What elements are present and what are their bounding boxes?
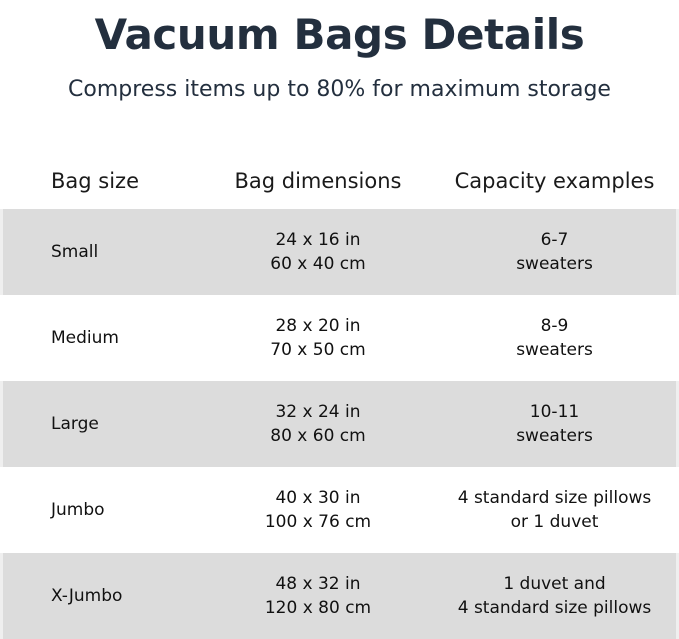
dimensions-centimeters: 60 x 40 cm — [206, 252, 430, 276]
capacity-line-1: 8-9 — [430, 314, 679, 338]
dimensions-inches: 48 x 32 in — [206, 572, 430, 596]
cell-bag-dimensions: 24 x 16 in 60 x 40 cm — [206, 228, 430, 276]
dimensions-inches: 24 x 16 in — [206, 228, 430, 252]
page-subtitle: Compress items up to 80% for maximum sto… — [0, 60, 679, 104]
vacuum-bags-details-page: Vacuum Bags Details Compress items up to… — [0, 0, 679, 639]
dimensions-centimeters: 70 x 50 cm — [206, 338, 430, 362]
cell-bag-dimensions: 28 x 20 in 70 x 50 cm — [206, 314, 430, 362]
column-header-bag-size: Bag size — [0, 168, 206, 194]
cell-bag-dimensions: 48 x 32 in 120 x 80 cm — [206, 572, 430, 620]
capacity-line-2: 4 standard size pillows — [430, 596, 679, 620]
dimensions-centimeters: 100 x 76 cm — [206, 510, 430, 534]
vacuum-bags-spec-table: Bag size Bag dimensions Capacity example… — [0, 152, 679, 639]
capacity-line-2: sweaters — [430, 424, 679, 448]
capacity-line-1: 10-11 — [430, 400, 679, 424]
cell-bag-dimensions: 40 x 30 in 100 x 76 cm — [206, 486, 430, 534]
cell-bag-size: Large — [0, 412, 206, 436]
capacity-line-2: sweaters — [430, 338, 679, 362]
table-row: Jumbo 40 x 30 in 100 x 76 cm 4 standard … — [0, 467, 679, 553]
cell-capacity-examples: 8-9 sweaters — [430, 314, 679, 362]
dimensions-centimeters: 120 x 80 cm — [206, 596, 430, 620]
dimensions-inches: 32 x 24 in — [206, 400, 430, 424]
capacity-line-1: 4 standard size pillows — [430, 486, 679, 510]
page-header: Vacuum Bags Details Compress items up to… — [0, 0, 679, 104]
capacity-line-1: 1 duvet and — [430, 572, 679, 596]
page-title: Vacuum Bags Details — [0, 4, 679, 60]
cell-capacity-examples: 1 duvet and 4 standard size pillows — [430, 572, 679, 620]
cell-bag-dimensions: 32 x 24 in 80 x 60 cm — [206, 400, 430, 448]
cell-bag-size: Small — [0, 240, 206, 264]
cell-bag-size: Jumbo — [0, 498, 206, 522]
cell-capacity-examples: 4 standard size pillows or 1 duvet — [430, 486, 679, 534]
table-row: Medium 28 x 20 in 70 x 50 cm 8-9 sweater… — [0, 295, 679, 381]
cell-capacity-examples: 6-7 sweaters — [430, 228, 679, 276]
capacity-line-1: 6-7 — [430, 228, 679, 252]
table-row: Small 24 x 16 in 60 x 40 cm 6-7 sweaters — [0, 209, 679, 295]
capacity-line-2: or 1 duvet — [430, 510, 679, 534]
column-header-bag-dimensions: Bag dimensions — [206, 168, 430, 194]
column-header-capacity-examples: Capacity examples — [430, 168, 679, 194]
dimensions-inches: 40 x 30 in — [206, 486, 430, 510]
table-row: Large 32 x 24 in 80 x 60 cm 10-11 sweate… — [0, 381, 679, 467]
table-row: X-Jumbo 48 x 32 in 120 x 80 cm 1 duvet a… — [0, 553, 679, 639]
cell-bag-size: Medium — [0, 326, 206, 350]
dimensions-centimeters: 80 x 60 cm — [206, 424, 430, 448]
cell-bag-size: X-Jumbo — [0, 584, 206, 608]
table-header-row: Bag size Bag dimensions Capacity example… — [0, 152, 679, 209]
dimensions-inches: 28 x 20 in — [206, 314, 430, 338]
cell-capacity-examples: 10-11 sweaters — [430, 400, 679, 448]
capacity-line-2: sweaters — [430, 252, 679, 276]
